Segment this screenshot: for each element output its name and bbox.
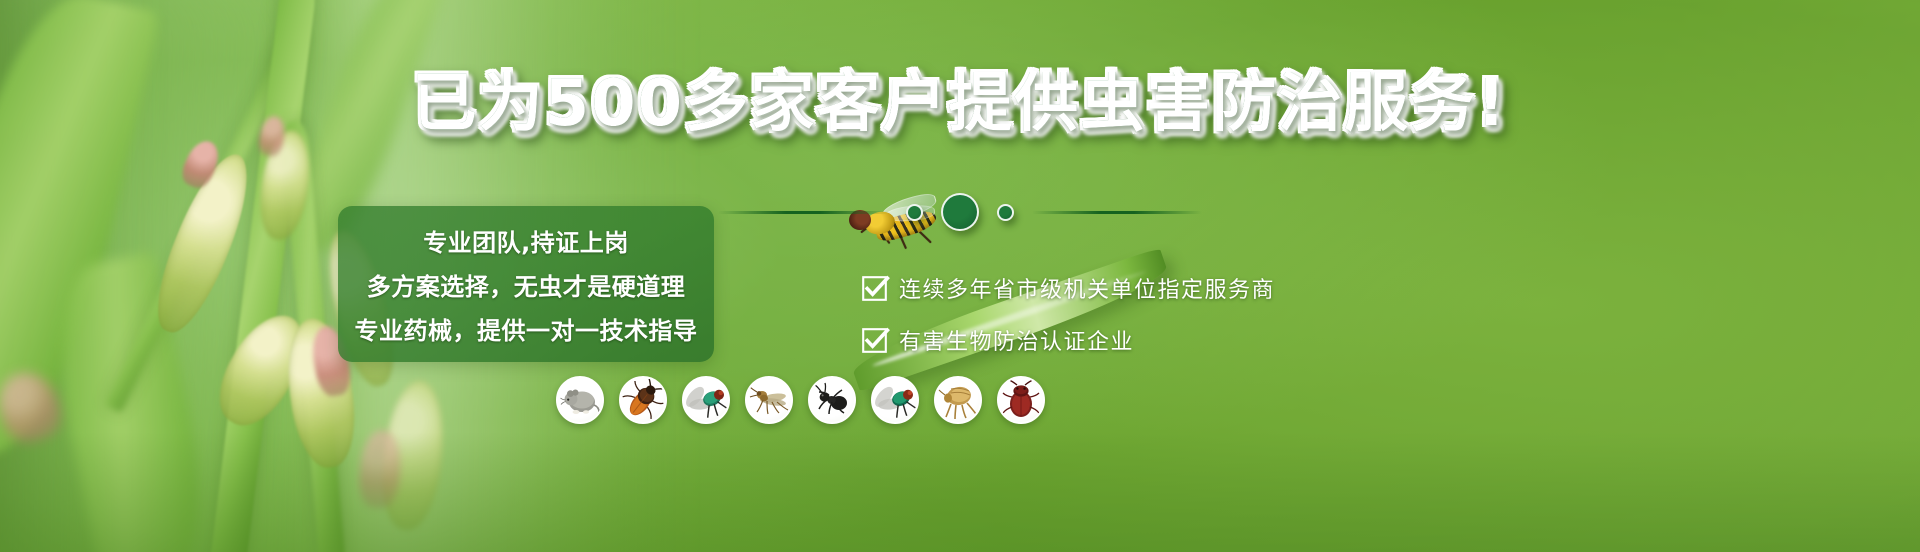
checklist-label: 连续多年省市级机关单位指定服务商 [899, 272, 1275, 304]
pest-icon-mouse[interactable] [556, 376, 604, 424]
checkbox-checked-icon [862, 328, 887, 353]
pest-icon-ant[interactable] [808, 376, 856, 424]
checklist-item: 有害生物防治认证企业 [862, 324, 1275, 356]
pest-icon-mosquito[interactable] [745, 376, 793, 424]
pest-icon-fly[interactable] [682, 376, 730, 424]
pest-icon-cockroach[interactable] [619, 376, 667, 424]
divider-rule-left [718, 211, 888, 214]
pest-icon-blowfly[interactable] [871, 376, 919, 424]
checklist-item: 连续多年省市级机关单位指定服务商 [862, 272, 1275, 304]
promo-banner: 已为500多家客户提供虫害防治服务! 专业团队,持证上岗 多方案选择，无虫才是硬… [0, 0, 1920, 552]
divider-dot-small-right [997, 204, 1014, 221]
feature-card: 专业团队,持证上岗 多方案选择，无虫才是硬道理 专业药械，提供一对一技术指导 [338, 206, 714, 362]
feature-line-1: 专业团队,持证上岗 [423, 223, 629, 258]
decorative-divider [0, 193, 1920, 231]
pest-icon-flea[interactable] [934, 376, 982, 424]
checkbox-checked-icon [862, 276, 887, 301]
feature-line-3: 专业药械，提供一对一技术指导 [355, 311, 698, 346]
divider-dot-small-left [906, 204, 923, 221]
checklist-label: 有害生物防治认证企业 [899, 324, 1134, 356]
divider-dot-large [941, 193, 979, 231]
credential-checklist: 连续多年省市级机关单位指定服务商 有害生物防治认证企业 [862, 272, 1275, 356]
pest-icon-bedbug[interactable] [997, 376, 1045, 424]
feature-line-2: 多方案选择，无虫才是硬道理 [367, 267, 686, 302]
pest-icon-row [556, 376, 1045, 424]
divider-rule-right [1032, 211, 1202, 214]
